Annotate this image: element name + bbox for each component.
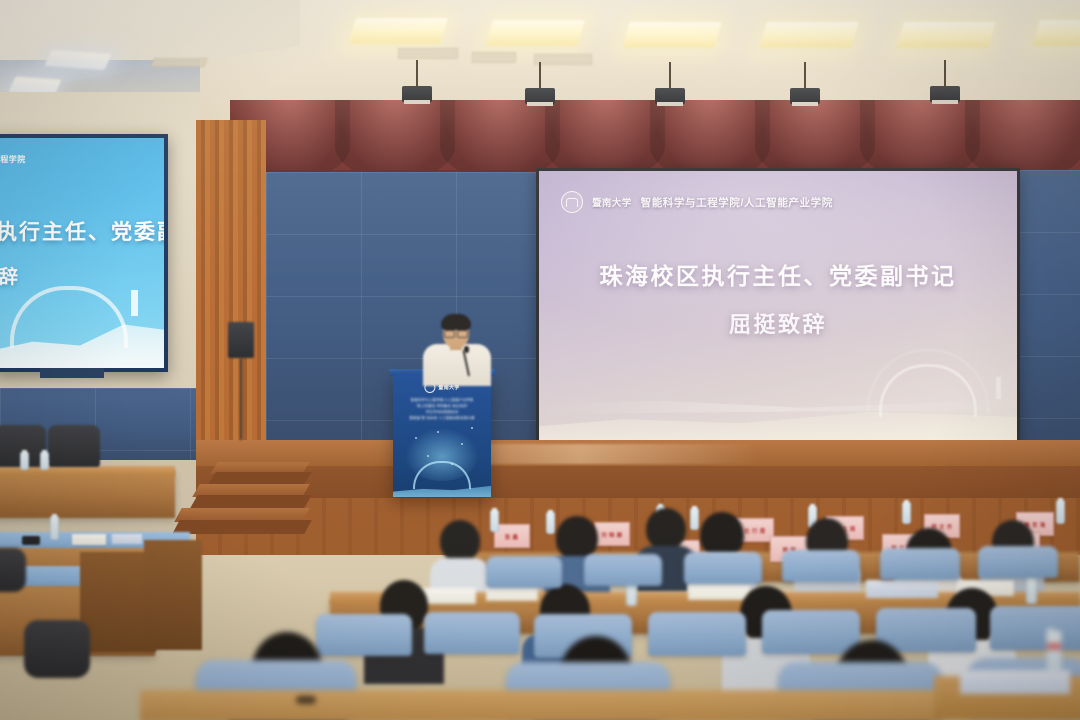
audience-chair	[978, 546, 1058, 578]
monitor-subtitle-text: 屈挺致辞	[0, 262, 20, 289]
speaker-hair	[441, 314, 471, 330]
document-folder	[960, 670, 1070, 694]
ceiling-light-panel	[1032, 20, 1080, 46]
microphone-stand	[240, 358, 242, 440]
water-bottle	[40, 452, 49, 470]
document-paper	[72, 534, 106, 545]
audience-chair	[0, 548, 26, 592]
podium-banner-line: 学生学术实践周启动	[399, 409, 485, 415]
water-bottle	[902, 502, 911, 524]
audience-chair	[424, 612, 520, 654]
water-bottle	[1026, 576, 1037, 604]
podium-microphone-head	[464, 346, 469, 353]
side-display-monitor: 智能科学与工程学院 珠海校区执行主任、党委副书记 屈挺致辞	[0, 134, 168, 372]
mobile-phone	[22, 536, 40, 545]
jinan-university-emblem-icon	[561, 191, 583, 213]
stage-step-riser	[190, 495, 312, 508]
screen-title: 珠海校区执行主任、党委副书记	[539, 257, 1017, 291]
audience-chair	[684, 552, 762, 584]
stage-monitor-speaker	[228, 322, 254, 358]
foreground-desk-hole	[296, 696, 316, 704]
podium: 暨南大学 智能科学与工程学院/人工智能产业学院 "新工科建设·学科融合·校企协同…	[393, 373, 491, 497]
monitor-arc-graphic	[10, 286, 128, 348]
head-table	[0, 470, 175, 518]
water-bottle	[546, 512, 555, 534]
monitor-header-text: 智能科学与工程学院	[0, 154, 26, 165]
document-paper	[486, 586, 538, 601]
air-vent	[472, 52, 516, 63]
podium-banner-line: 智能科学与工程学院/人工智能产业学院	[399, 397, 485, 403]
monitor-stand	[40, 368, 104, 378]
ceiling-light-panel	[348, 18, 447, 44]
audience-chair	[24, 620, 90, 678]
podium-banner-line: 暨首届"智"创未来 人工智能创新实践大赛	[399, 415, 485, 421]
water-bottle	[690, 508, 699, 530]
water-bottle	[1046, 630, 1062, 674]
screen-university-name: 暨南大学	[592, 195, 632, 209]
water-bottle	[20, 452, 29, 470]
water-bottle	[1056, 500, 1065, 524]
monitor-tower-graphic	[131, 290, 138, 316]
audience-chair	[880, 548, 960, 580]
ceiling-light-panel	[622, 22, 721, 48]
audience-chair	[486, 556, 562, 588]
monitor-title-text: 珠海校区执行主任、党委副书记	[0, 216, 164, 246]
speaker-glasses	[444, 330, 468, 336]
projection-screen-frame: 暨南大学 智能科学与工程学院/人工智能产业学院 珠海校区执行主任、党委副书记 屈…	[536, 168, 1020, 446]
audience-chair	[584, 554, 662, 586]
air-vent	[398, 48, 458, 59]
lecture-hall-photo: 智能科学与工程学院 珠海校区执行主任、党委副书记 屈挺致辞 暨南大学 智能科学与…	[0, 0, 1080, 720]
water-bottle	[490, 510, 499, 532]
acoustic-panel-wall-right	[1012, 170, 1080, 442]
projection-screen: 暨南大学 智能科学与工程学院/人工智能产业学院 珠海校区执行主任、党委副书记 屈…	[539, 171, 1017, 443]
audience-chair	[782, 550, 860, 582]
foreground-desk-top	[140, 690, 940, 720]
podium-banner-text: 智能科学与工程学院/人工智能产业学院 "新工科建设·学科融合·校企协同" 学生学…	[398, 397, 486, 421]
front-desk-panel	[144, 540, 202, 650]
screen-subtitle: 屈挺致辞	[539, 307, 1017, 339]
screen-college-name: 智能科学与工程学院/人工智能产业学院	[641, 195, 833, 210]
ceiling-light-panel	[485, 20, 584, 46]
stage-step-riser	[208, 472, 311, 484]
document-folder	[112, 534, 142, 544]
seat-namecard: 张 鑫	[494, 524, 530, 548]
audience-chair	[316, 614, 412, 656]
screen-tower-graphic	[996, 377, 1001, 399]
side-display-screen: 智能科学与工程学院 珠海校区执行主任、党委副书记 屈挺致辞	[0, 138, 164, 368]
air-vent	[534, 54, 592, 65]
stage-step-riser	[172, 520, 311, 534]
ceiling-light-panel	[896, 22, 995, 48]
curtain-swag	[335, 100, 455, 180]
speaker-torso	[423, 344, 491, 386]
podium-banner-line: "新工科建设·学科融合·校企协同"	[399, 403, 485, 409]
ceiling-light-panel	[759, 22, 858, 48]
water-bottle	[50, 516, 59, 540]
air-vent	[150, 58, 208, 67]
head-table-chair	[48, 425, 100, 467]
seat-namecard: 刘 晓 颖	[594, 522, 630, 546]
stage-curtain-valance	[230, 100, 1080, 178]
document-folder	[866, 580, 938, 598]
document-paper	[688, 584, 750, 600]
screen-header: 暨南大学 智能科学与工程学院/人工智能产业学院	[561, 191, 833, 213]
audience-chair	[648, 612, 746, 656]
audience-chair	[762, 610, 860, 654]
audience-chair	[990, 606, 1080, 650]
